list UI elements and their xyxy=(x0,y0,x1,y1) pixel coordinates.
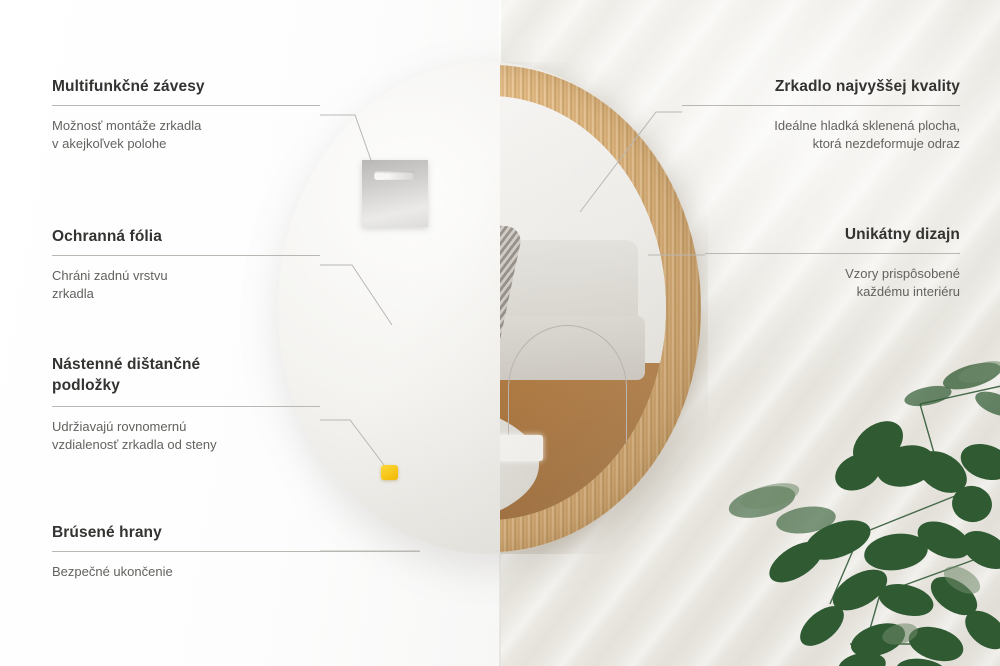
mirror-photo-half xyxy=(500,62,708,554)
callout-rule xyxy=(52,255,320,256)
callout-title: Unikátny dizajn xyxy=(705,226,960,244)
callout-rule xyxy=(705,253,960,254)
callout-nastenne-distancne-podlozky: Nástenné dištančné podložky Udržiavajú r… xyxy=(52,355,320,455)
callout-description: Udržiavajú rovnomernú vzdialenosť zrkadl… xyxy=(52,418,320,455)
callout-title: Zrkadlo najvyššej kvality xyxy=(682,78,960,96)
callout-description: Možnosť montáže zrkadla v akejkoľvek pol… xyxy=(52,117,320,154)
callout-ochranna-folia: Ochranná fólia Chráni zadnú vrstvu zrkad… xyxy=(52,228,320,304)
callout-description: Chráni zadnú vrstvu zrkadla xyxy=(52,267,320,304)
callout-title: Ochranná fólia xyxy=(52,228,320,246)
callout-description: Vzory prispôsobené každému interiéru xyxy=(705,265,960,302)
mirror-product xyxy=(278,62,708,554)
wall-spacer-icon xyxy=(381,465,398,480)
hanger-bracket-icon xyxy=(362,160,428,227)
callout-rule xyxy=(52,105,320,106)
callout-title: Brúsené hrany xyxy=(52,524,420,542)
callout-brusene-hrany: Brúsené hrany Bezpečné ukončenie xyxy=(52,524,420,581)
callout-title: Nástenné dištančné podložky xyxy=(52,355,320,397)
plant-foliage xyxy=(710,344,1000,666)
callout-title: Multifunkčné závesy xyxy=(52,78,320,96)
callout-rule xyxy=(52,406,320,407)
callout-description: Ideálne hladká sklenená plocha, ktorá ne… xyxy=(682,117,960,154)
callout-unikatny-dizajn: Unikátny dizajn Vzory prispôsobené každé… xyxy=(705,226,960,302)
callout-description: Bezpečné ukončenie xyxy=(52,563,420,581)
glass-surface xyxy=(500,96,666,520)
callout-rule xyxy=(682,105,960,106)
glass-reflection-sheen xyxy=(500,96,666,520)
infographic-stage: Multifunkčné závesy Možnosť montáže zrka… xyxy=(0,0,1000,666)
callout-zrkadlo-najvyssej-kvality: Zrkadlo najvyššej kvality Ideálne hladká… xyxy=(682,78,960,154)
callout-multifunkcne-zavesy: Multifunkčné závesy Možnosť montáže zrka… xyxy=(52,78,320,154)
callout-rule xyxy=(52,551,420,552)
